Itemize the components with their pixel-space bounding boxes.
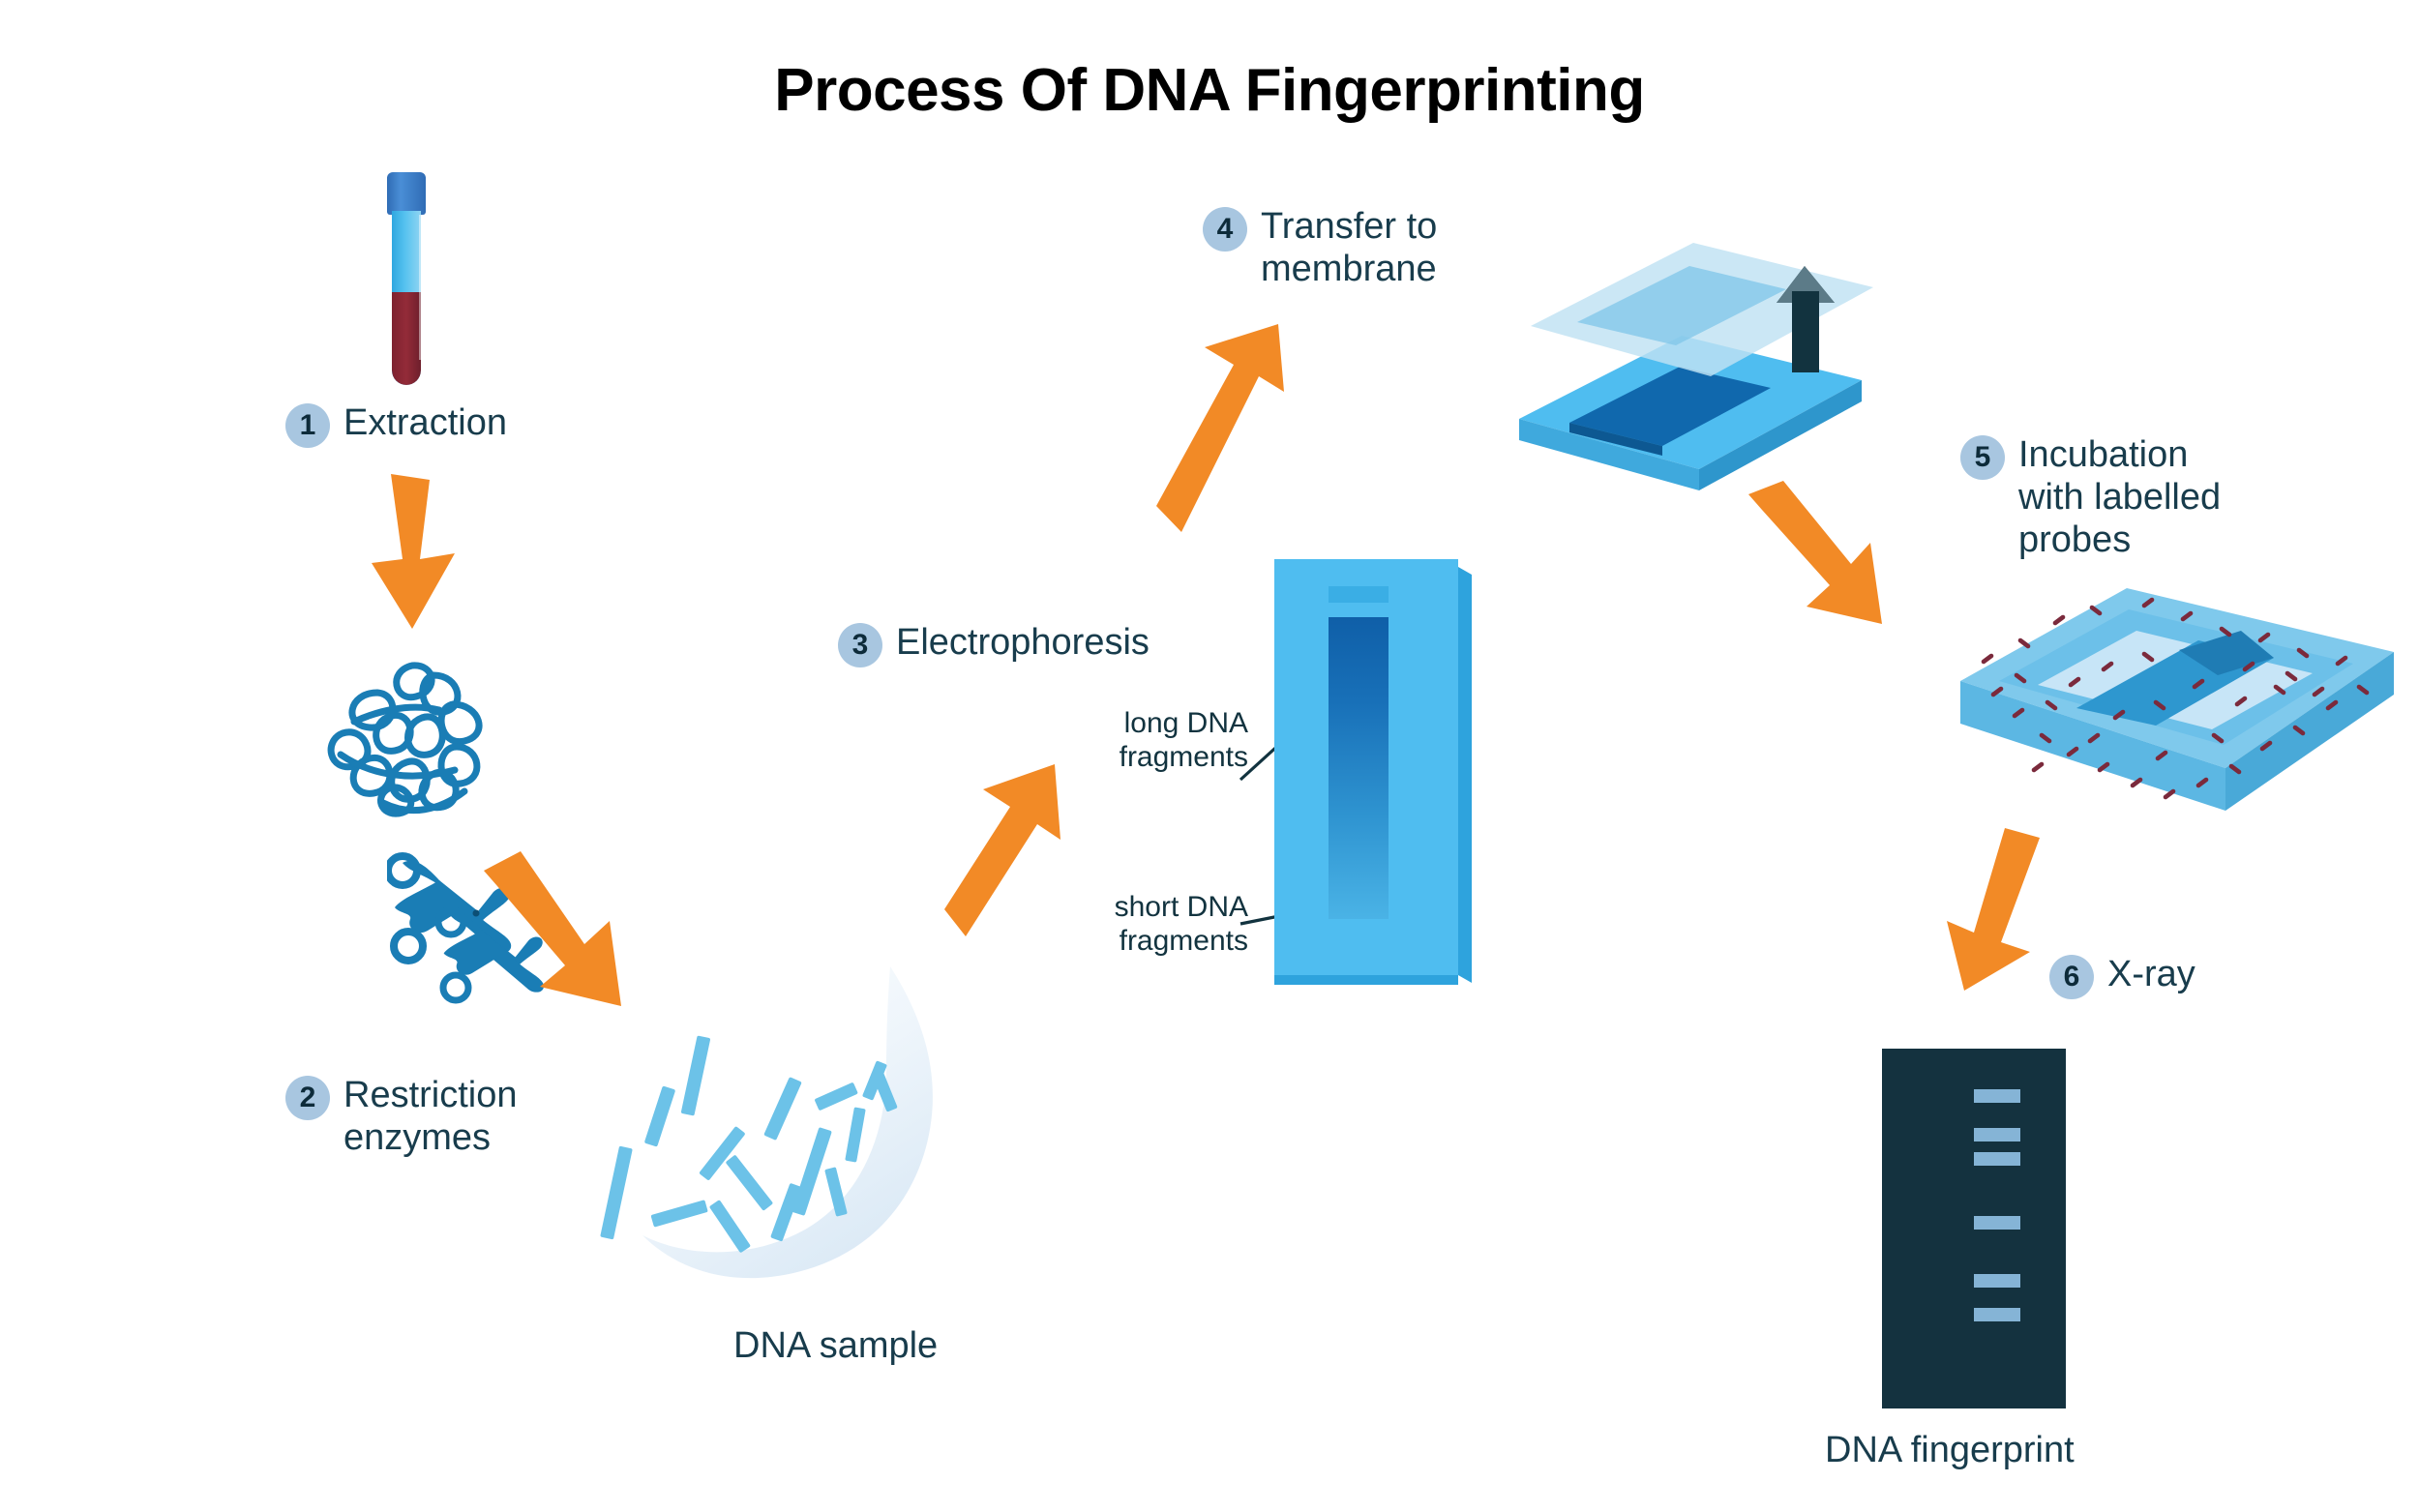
fingerprint-band bbox=[1974, 1152, 2020, 1166]
fingerprint-band bbox=[1974, 1274, 2020, 1288]
arrow-incubation-to-xray bbox=[1947, 828, 2063, 993]
gel-base-edge bbox=[1274, 975, 1458, 985]
arrow-step1-to-step2 bbox=[370, 474, 476, 629]
tube-blood bbox=[392, 292, 421, 385]
step-3-electrophoresis[interactable]: 3 Electrophoresis bbox=[838, 621, 1150, 667]
step-6-badge: 6 bbox=[2049, 955, 2094, 999]
fingerprint-band bbox=[1974, 1308, 2020, 1321]
fingerprint-band bbox=[1974, 1089, 2020, 1103]
step-5-incubation-with-labelled-probes[interactable]: 5 Incubation with labelled probes bbox=[1960, 433, 2221, 561]
tube-highlight bbox=[419, 215, 427, 360]
step-4-label: Transfer to membrane bbox=[1261, 205, 1437, 290]
step-3-badge: 3 bbox=[838, 623, 882, 667]
step-3-label: Electrophoresis bbox=[896, 621, 1150, 664]
label-short-dna-fragments: short DNA fragments bbox=[977, 890, 1248, 959]
step-1-badge: 1 bbox=[285, 403, 330, 448]
step-6-xray[interactable]: 6 X-ray bbox=[2049, 953, 2195, 999]
label-long-dna-fragments: long DNA fragments bbox=[977, 706, 1248, 775]
step-2-restriction-enzymes[interactable]: 2 Restriction enzymes bbox=[285, 1074, 518, 1159]
x-ray-film-icon bbox=[1882, 1049, 2066, 1408]
membrane-transfer-icon bbox=[1509, 208, 1896, 508]
tangled-dna-icon bbox=[319, 658, 503, 822]
fingerprint-band bbox=[1974, 1128, 2020, 1141]
arrow-electrophoresis-to-transfer bbox=[1156, 324, 1330, 532]
step-2-label: Restriction enzymes bbox=[343, 1074, 518, 1159]
step-4-badge: 4 bbox=[1203, 207, 1247, 252]
incubation-tray-icon bbox=[1955, 580, 2400, 822]
step-5-label: Incubation with labelled probes bbox=[2018, 433, 2221, 561]
arrow-transfer-to-incubation bbox=[1747, 481, 1901, 626]
tube-body bbox=[392, 211, 421, 385]
step-2-badge: 2 bbox=[285, 1076, 330, 1120]
test-tube-icon bbox=[383, 172, 430, 385]
step-5-badge: 5 bbox=[1960, 435, 2005, 480]
caption-dna-sample: DNA sample bbox=[733, 1325, 938, 1367]
step-6-label: X-ray bbox=[2107, 953, 2195, 995]
gel-front-face bbox=[1274, 559, 1458, 975]
dna-sample-icon bbox=[600, 953, 1006, 1330]
fingerprint-band bbox=[1974, 1216, 2020, 1230]
electrophoresis-gel-icon bbox=[1274, 559, 1473, 990]
page-title: Process Of DNA Fingerprinting bbox=[0, 56, 2419, 125]
caption-dna-fingerprint: DNA fingerprint bbox=[1825, 1430, 2075, 1471]
gel-dna-smear bbox=[1329, 617, 1389, 919]
gel-well bbox=[1329, 586, 1389, 603]
gel-side-edge bbox=[1458, 567, 1472, 983]
step-4-transfer-to-membrane[interactable]: 4 Transfer to membrane bbox=[1203, 205, 1437, 290]
step-1-label: Extraction bbox=[343, 401, 507, 444]
diagram-canvas: Process Of DNA Fingerprinting 1 Extracti… bbox=[0, 0, 2419, 1512]
step-1-extraction[interactable]: 1 Extraction bbox=[285, 401, 507, 448]
tube-cap bbox=[387, 172, 426, 215]
